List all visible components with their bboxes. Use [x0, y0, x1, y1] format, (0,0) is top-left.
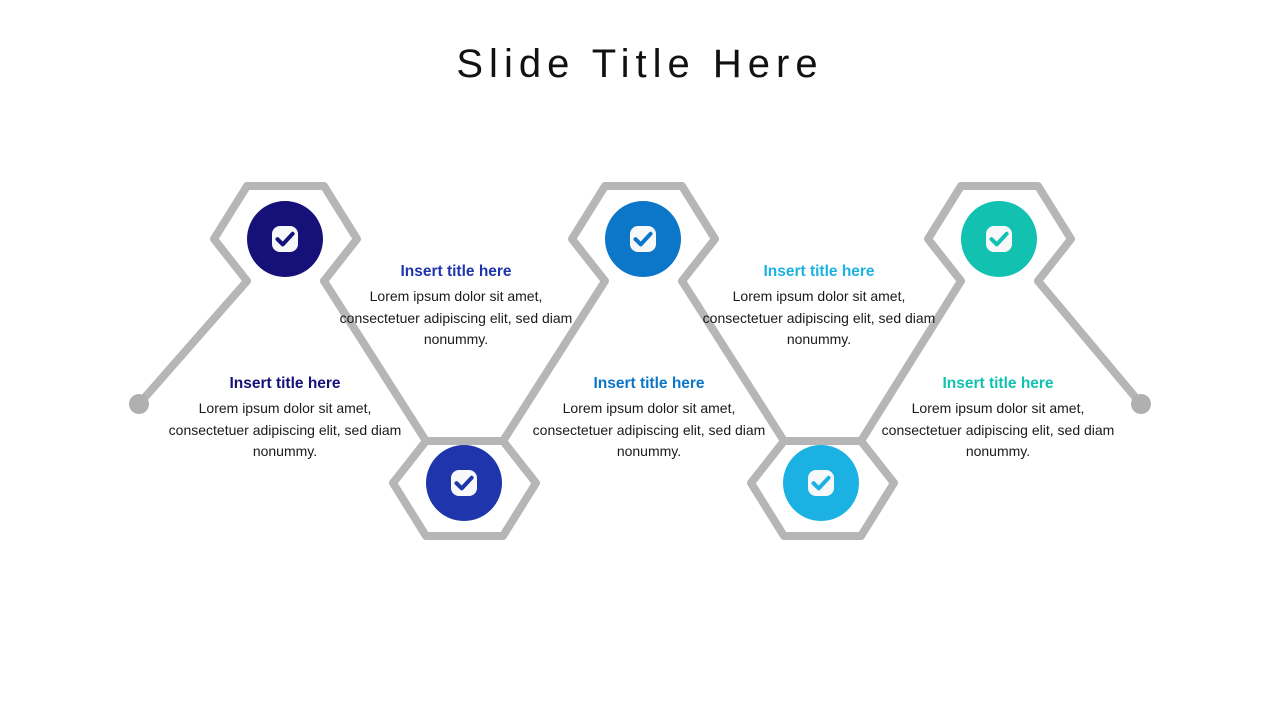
step-icon-5[interactable]	[961, 201, 1037, 277]
step-title-2: Insert title here	[331, 262, 581, 282]
step-icon-4[interactable]	[783, 445, 859, 521]
step-description-2: Lorem ipsum dolor sit amet, consectetuer…	[331, 286, 581, 351]
step-text-block-4: Insert title here Lorem ipsum dolor sit …	[694, 262, 944, 351]
step-description-5: Lorem ipsum dolor sit amet, consectetuer…	[873, 398, 1123, 463]
step-title-3: Insert title here	[524, 374, 774, 394]
step-icon-3[interactable]	[605, 201, 681, 277]
process-diagram	[0, 0, 1280, 720]
step-text-block-5: Insert title here Lorem ipsum dolor sit …	[873, 374, 1123, 463]
step-icon-2[interactable]	[426, 445, 502, 521]
step-text-block-1: Insert title here Lorem ipsum dolor sit …	[160, 374, 410, 463]
step-title-5: Insert title here	[873, 374, 1123, 394]
step-title-4: Insert title here	[694, 262, 944, 282]
start-endpoint-dot	[129, 394, 149, 414]
slide-canvas: Slide Title Here	[0, 0, 1280, 720]
step-description-1: Lorem ipsum dolor sit amet, consectetuer…	[160, 398, 410, 463]
step-text-block-3: Insert title here Lorem ipsum dolor sit …	[524, 374, 774, 463]
step-description-3: Lorem ipsum dolor sit amet, consectetuer…	[524, 398, 774, 463]
step-icon-1[interactable]	[247, 201, 323, 277]
step-title-1: Insert title here	[160, 374, 410, 394]
step-description-4: Lorem ipsum dolor sit amet, consectetuer…	[694, 286, 944, 351]
end-endpoint-dot	[1131, 394, 1151, 414]
step-text-block-2: Insert title here Lorem ipsum dolor sit …	[331, 262, 581, 351]
